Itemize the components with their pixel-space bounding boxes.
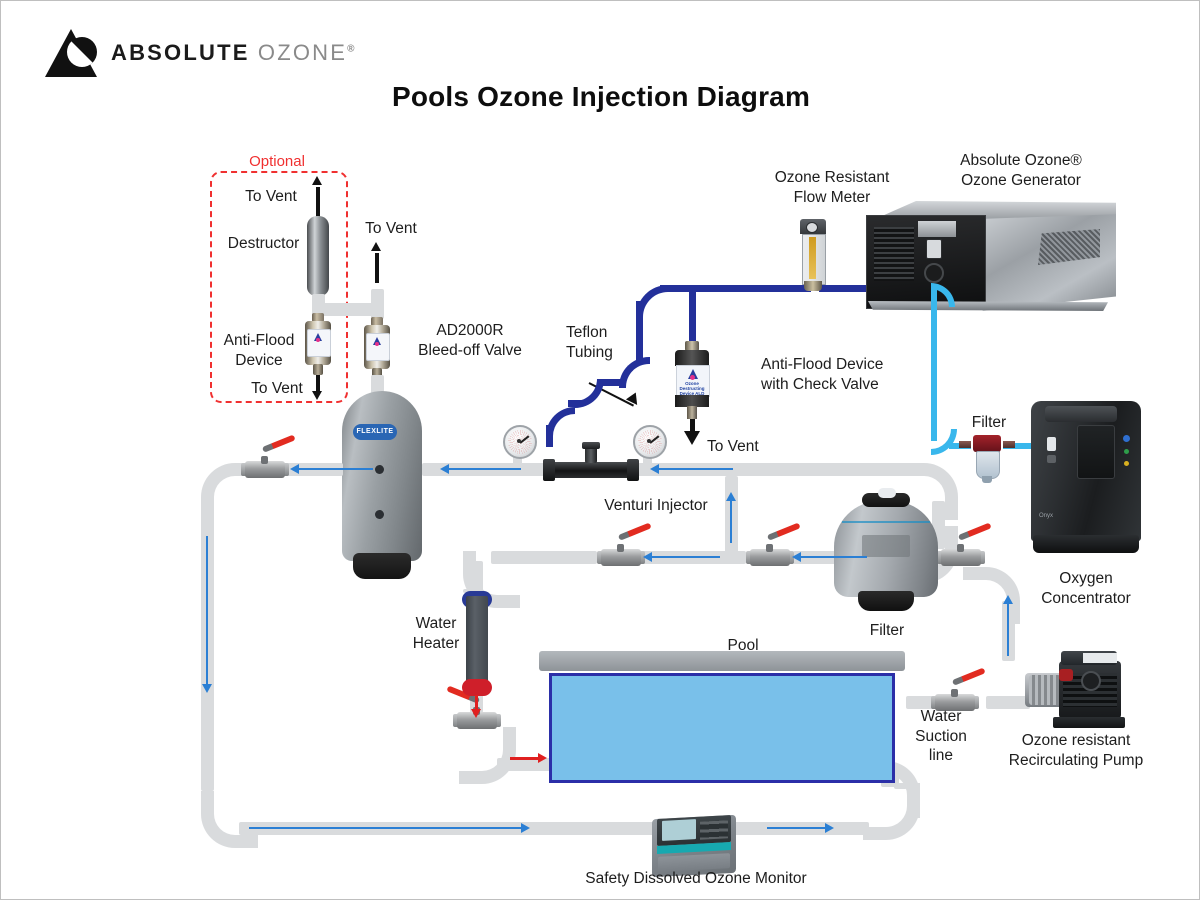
valve-handle[interactable] xyxy=(262,434,296,452)
concentrator-handle xyxy=(1045,406,1117,422)
gas-filter-inlet-fitting xyxy=(959,441,971,448)
filter-stripe xyxy=(842,521,930,523)
flow-meter-scale xyxy=(809,237,816,279)
pool-basin xyxy=(549,673,895,783)
contact-tank-badge: FLEXLITE xyxy=(353,424,397,440)
generator-intake-grille xyxy=(874,227,914,281)
valve-stem xyxy=(766,544,773,552)
label-to-vent-bottom: To Vent xyxy=(241,379,313,399)
tube-afd-feed xyxy=(689,285,696,341)
label-ad2000r-bleed-off-valve: AD2000R Bleed-off Valve xyxy=(405,321,535,360)
venturi-injector xyxy=(543,459,639,481)
tube-bend-a xyxy=(546,407,575,436)
concentrator-status-led-amber xyxy=(1124,461,1129,466)
label-water-suction-line: Water Suction line xyxy=(899,707,983,766)
ball-valve-filter-outlet[interactable] xyxy=(937,544,985,570)
venturi-suction-neck xyxy=(585,447,597,463)
afd-check-logo-dot-icon xyxy=(690,375,695,380)
pipe-elbow-heater xyxy=(459,727,516,784)
diagram-canvas: ABSOLUTE OZONE® Pools Ozone Injection Di… xyxy=(0,0,1200,900)
ozone-contact-tank xyxy=(342,391,422,561)
pump-nameplate xyxy=(1083,653,1117,663)
afd-check-outlet-stem xyxy=(687,406,697,419)
gauge-pin-left xyxy=(517,439,521,443)
brand-logo: ABSOLUTE OZONE® xyxy=(45,29,357,77)
pump-port-icon xyxy=(1081,671,1101,691)
valve-handle[interactable] xyxy=(958,522,992,540)
water-heater-hot-cap xyxy=(462,679,492,696)
afd-foot xyxy=(313,364,323,375)
generator-nameplate xyxy=(918,221,956,237)
afd-check-upper-shell xyxy=(675,350,709,366)
concentrator-secondary-switch[interactable] xyxy=(1047,455,1056,463)
label-recirculating-pump: Ozone resistant Recirculating Pump xyxy=(986,731,1166,770)
filter-badge xyxy=(862,535,910,557)
concentrator-power-switch[interactable] xyxy=(1047,437,1056,451)
valve-handle[interactable] xyxy=(618,522,652,540)
valve-handle[interactable] xyxy=(952,667,986,685)
afd-logo-dot-icon xyxy=(316,338,320,342)
oxygen-concentrator: Onyx xyxy=(1031,401,1141,556)
tube-to-flowmeter xyxy=(691,285,811,292)
label-oxygen-concentrator: Oxygen Concentrator xyxy=(1013,569,1159,608)
safety-dissolved-ozone-monitor xyxy=(652,813,736,875)
monitor-lcd-screen xyxy=(662,819,696,841)
valve-stem xyxy=(261,456,268,464)
optional-badge: Optional xyxy=(210,153,344,170)
pool-deck xyxy=(539,651,905,671)
concentrator-brand-text: Onyx xyxy=(1039,513,1079,519)
gas-filter-cap xyxy=(973,435,1001,452)
pool-sand-filter xyxy=(834,491,938,613)
valve-stem xyxy=(951,689,958,697)
pump-priming-cap xyxy=(1059,669,1073,681)
tank-port-lower xyxy=(375,510,384,519)
registered-mark: ® xyxy=(347,44,357,55)
label-sand-filter: Filter xyxy=(837,621,937,641)
label-gas-filter: Filter xyxy=(941,413,1037,433)
brand-name-light: OZONE xyxy=(258,40,347,65)
label-destructor: Destructor xyxy=(216,234,311,254)
pipe-elbow-bottom-left xyxy=(201,791,258,848)
gas-filter-bowl xyxy=(976,451,1000,479)
ball-valve-cold-water-left[interactable] xyxy=(597,544,645,570)
absolute-ozone-triangle-logo xyxy=(45,29,97,77)
pump-barrel xyxy=(1029,675,1061,705)
gas-filter-outlet-fitting xyxy=(1003,441,1015,448)
gauge-pin-right xyxy=(647,439,651,443)
absolute-ozone-generator xyxy=(866,201,1116,319)
monitor-keypad[interactable] xyxy=(700,820,728,839)
concentrator-status-led-blue xyxy=(1123,435,1130,442)
ball-valve-cold-water-right[interactable] xyxy=(746,544,794,570)
label-to-vent-bleed: To Vent xyxy=(356,219,426,239)
venturi-barrel xyxy=(551,462,631,478)
label-to-vent-check: To Vent xyxy=(707,437,779,457)
label-anti-flood-check-valve: Anti-Flood Device with Check Valve xyxy=(761,355,941,394)
venturi-suction-nut xyxy=(582,442,600,449)
label-teflon-tubing: Teflon Tubing xyxy=(566,323,646,362)
generator-base-rail xyxy=(868,301,1108,311)
ozone-resistant-flow-meter xyxy=(800,219,826,291)
pipe-bleed-riser xyxy=(371,289,384,319)
label-to-vent-top: To Vent xyxy=(226,187,316,207)
brand-wordmark: ABSOLUTE OZONE® xyxy=(111,40,357,66)
valve-stem xyxy=(617,544,624,552)
ozone-destructor xyxy=(307,216,329,296)
venturi-outlet-union xyxy=(627,459,639,481)
gas-filter-drain xyxy=(982,476,992,483)
pressure-gauge-outlet xyxy=(633,425,667,459)
label-ozone-generator: Absolute Ozone® Ozone Generator xyxy=(931,151,1111,190)
concentrator-status-led-green xyxy=(1124,449,1129,454)
label-ozone-monitor: Safety Dissolved Ozone Monitor xyxy=(571,869,821,889)
label-water-heater: Water Heater xyxy=(394,614,478,653)
pressure-gauge-inlet xyxy=(503,425,537,459)
filter-air-valve[interactable] xyxy=(878,488,896,498)
valve-stem xyxy=(957,544,964,552)
label-venturi-injector: Venturi Injector xyxy=(589,496,723,516)
contact-tank-base xyxy=(353,553,411,579)
oxygen-tube-vertical xyxy=(931,289,937,441)
label-anti-flood-device: Anti-Flood Device xyxy=(209,331,309,370)
oxygen-gas-filter xyxy=(967,435,1007,483)
bleed-logo-dot-icon xyxy=(375,342,379,346)
tube-seg-b xyxy=(597,379,621,386)
ball-valve-tank-inlet[interactable] xyxy=(241,456,289,482)
ad2000r-bleed-off-valve xyxy=(364,317,390,379)
filter-base xyxy=(858,591,914,611)
pump-base xyxy=(1053,717,1125,728)
ozone-resistant-recirculating-pump xyxy=(1025,651,1129,739)
anti-flood-device-check-valve: Ozone Destructing Device ALD 2000 xyxy=(675,341,709,419)
concentrator-display-panel xyxy=(1077,425,1115,479)
pipe-suction-right xyxy=(986,696,1030,709)
valve-handle[interactable] xyxy=(767,522,801,540)
brand-name-bold: ABSOLUTE xyxy=(111,40,250,65)
generator-outlet-port xyxy=(924,263,944,283)
venturi-inlet-union xyxy=(543,459,555,481)
page-title: Pools Ozone Injection Diagram xyxy=(1,81,1200,113)
flow-meter-knob-icon xyxy=(806,222,818,233)
tank-port-upper xyxy=(375,465,384,474)
oxygen-tube-bend-bottom xyxy=(931,429,957,455)
generator-power-switch[interactable] xyxy=(926,239,942,259)
concentrator-base xyxy=(1033,535,1139,553)
flow-meter-base xyxy=(804,281,822,291)
